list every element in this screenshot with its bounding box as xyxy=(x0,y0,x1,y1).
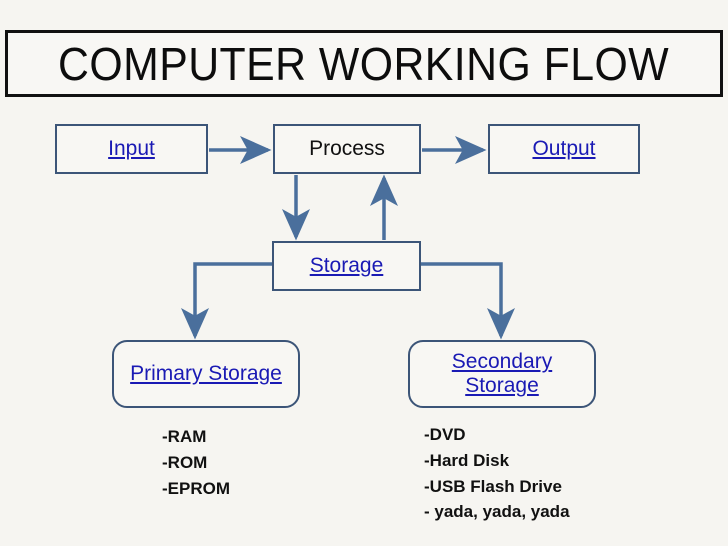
node-secondary-storage[interactable]: Secondary Storage xyxy=(408,340,596,408)
list-item: -Hard Disk xyxy=(424,448,570,474)
node-storage[interactable]: Storage xyxy=(272,241,421,291)
list-item: -RAM xyxy=(162,424,230,450)
node-output[interactable]: Output xyxy=(488,124,640,174)
node-secondary-storage-label-line1: Secondary xyxy=(452,350,552,373)
primary-storage-item-list: -RAM -ROM -EPROM xyxy=(162,424,230,501)
node-secondary-storage-label: Secondary Storage xyxy=(452,350,552,397)
list-item: -USB Flash Drive xyxy=(424,474,570,500)
node-input-label: Input xyxy=(108,137,155,161)
connector-storage-to-secondary xyxy=(421,264,501,336)
connector-storage-to-primary xyxy=(195,264,272,336)
node-process-label: Process xyxy=(309,137,385,161)
secondary-storage-item-list: -DVD -Hard Disk -USB Flash Drive - yada,… xyxy=(424,422,570,525)
node-secondary-storage-label-line2: Storage xyxy=(465,374,539,397)
slide-canvas: COMPUTER WORKING FLOW Input Process Outp… xyxy=(0,0,728,546)
list-item: -EPROM xyxy=(162,476,230,502)
node-input[interactable]: Input xyxy=(55,124,208,174)
title-box: COMPUTER WORKING FLOW xyxy=(5,30,723,97)
node-primary-storage-label: Primary Storage xyxy=(130,362,282,386)
list-item: - yada, yada, yada xyxy=(424,499,570,525)
node-storage-label: Storage xyxy=(310,254,384,278)
list-item: -ROM xyxy=(162,450,230,476)
node-output-label: Output xyxy=(532,137,595,161)
node-primary-storage[interactable]: Primary Storage xyxy=(112,340,300,408)
node-process[interactable]: Process xyxy=(273,124,421,174)
page-title: COMPUTER WORKING FLOW xyxy=(58,41,669,87)
list-item: -DVD xyxy=(424,422,570,448)
